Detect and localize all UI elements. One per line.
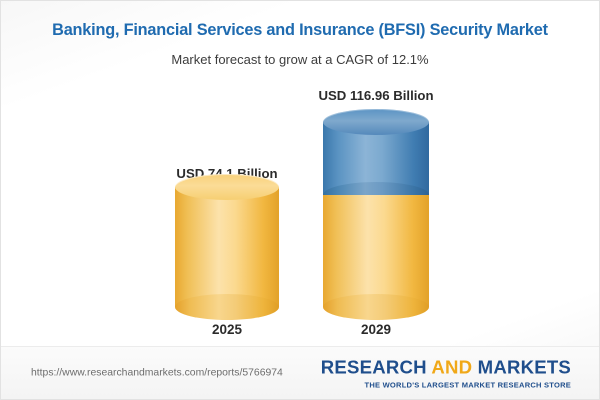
chart-plot-area: USD 74.1 Billion 2025 USD 116.96 Billion <box>1 89 599 339</box>
logo-word-and: AND <box>431 357 477 378</box>
cylinder-segment-base-2029 <box>323 195 429 307</box>
cylinder-body <box>323 195 429 307</box>
cylinder-segment-growth-2029 <box>323 122 429 195</box>
cylinder-body <box>175 187 279 307</box>
chart-subtitle: Market forecast to grow at a CAGR of 12.… <box>1 52 599 67</box>
cylinder-bar-2029 <box>323 122 429 307</box>
cylinder-segment-base-2025 <box>175 187 279 307</box>
category-label-2025: 2025 <box>212 322 242 337</box>
cylinder-bar-2025 <box>175 187 279 307</box>
cylinder-bottom-cap <box>175 294 279 320</box>
infographic-canvas: Banking, Financial Services and Insuranc… <box>0 0 600 400</box>
cylinder-top-cap <box>175 174 279 200</box>
research-and-markets-logo[interactable]: RESEARCH AND MARKETS THE WORLD'S LARGEST… <box>321 357 571 390</box>
report-url[interactable]: https://www.researchandmarkets.com/repor… <box>31 368 283 379</box>
cylinder-bottom-cap <box>323 294 429 320</box>
logo-word-research: RESEARCH <box>321 357 432 378</box>
logo-word-markets: MARKETS <box>478 357 571 378</box>
category-label-2029: 2029 <box>361 322 391 337</box>
footer-bar: https://www.researchandmarkets.com/repor… <box>1 346 599 399</box>
logo-wordmark: RESEARCH AND MARKETS <box>321 357 571 379</box>
chart-header: Banking, Financial Services and Insuranc… <box>1 1 599 67</box>
chart-title: Banking, Financial Services and Insuranc… <box>1 21 599 41</box>
logo-tagline: THE WORLD'S LARGEST MARKET RESEARCH STOR… <box>321 381 571 390</box>
cylinder-top-cap <box>323 109 429 135</box>
bar-value-label-2029: USD 116.96 Billion <box>318 88 433 103</box>
